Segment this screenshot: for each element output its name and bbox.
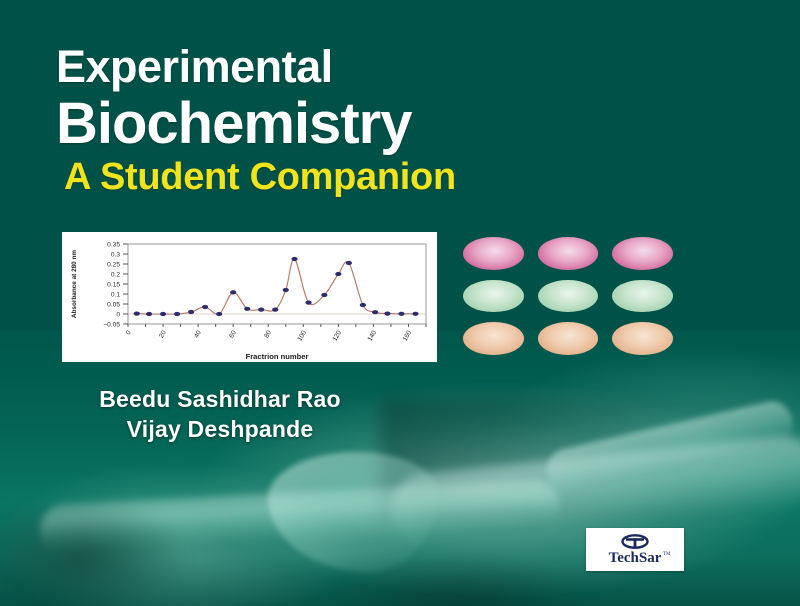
svg-text:0.25: 0.25 [107,262,120,269]
svg-text:0.3: 0.3 [111,252,120,259]
author-name: Vijay Deshpande [0,414,440,444]
svg-text:60: 60 [228,329,238,339]
author-name: Beedu Sashidhar Rao [0,384,440,414]
photo-dark-blur-right [330,555,590,606]
author-block: Beedu Sashidhar Rao Vijay Deshpande [0,384,440,445]
oval-swatch [612,322,673,355]
absorbance-line-chart: −0.0500.050.10.150.20.250.30.35020406080… [62,232,437,362]
svg-text:40: 40 [193,329,203,339]
svg-text:0.1: 0.1 [111,292,120,299]
svg-text:0: 0 [125,329,133,336]
oval-swatch-grid [463,237,673,355]
svg-text:140: 140 [367,329,379,342]
svg-text:Fractrion number: Fractrion number [246,352,309,361]
oval-swatch [538,237,599,270]
oval-swatch [612,280,673,313]
subtitle: A Student Companion [64,158,746,198]
publisher-logo: TechSarTM [586,528,684,571]
oval-swatch [463,280,524,313]
svg-text:0.35: 0.35 [107,242,120,249]
oval-swatch [463,237,524,270]
svg-text:120: 120 [332,329,344,342]
svg-text:0: 0 [116,312,120,319]
publisher-name: TechSarTM [609,551,662,566]
chromatography-chart-panel: −0.0500.050.10.150.20.250.30.35020406080… [62,232,437,362]
oval-swatch [538,280,599,313]
photo-dark-blur-left [0,498,190,606]
svg-text:0.05: 0.05 [107,302,120,309]
trademark-symbol: TM [663,552,671,557]
publisher-name-text: TechSar [609,550,662,566]
title-line-one: Experimental [56,44,746,90]
svg-text:80: 80 [263,329,273,339]
title-line-two: Biochemistry [56,94,746,154]
techsar-monogram-icon [615,533,655,550]
svg-text:20: 20 [158,329,168,339]
book-cover: Experimental Biochemistry A Student Comp… [0,0,800,606]
svg-text:−0.05: −0.05 [103,322,120,329]
oval-swatch [538,322,599,355]
title-block: Experimental Biochemistry A Student Comp… [56,44,746,198]
svg-text:0.2: 0.2 [111,272,120,279]
svg-text:100: 100 [296,329,308,342]
oval-swatch [612,237,673,270]
svg-text:160: 160 [402,329,414,342]
oval-swatch [463,322,524,355]
svg-text:Absorbance at 280 nm: Absorbance at 280 nm [71,250,78,319]
svg-text:0.15: 0.15 [107,282,120,289]
